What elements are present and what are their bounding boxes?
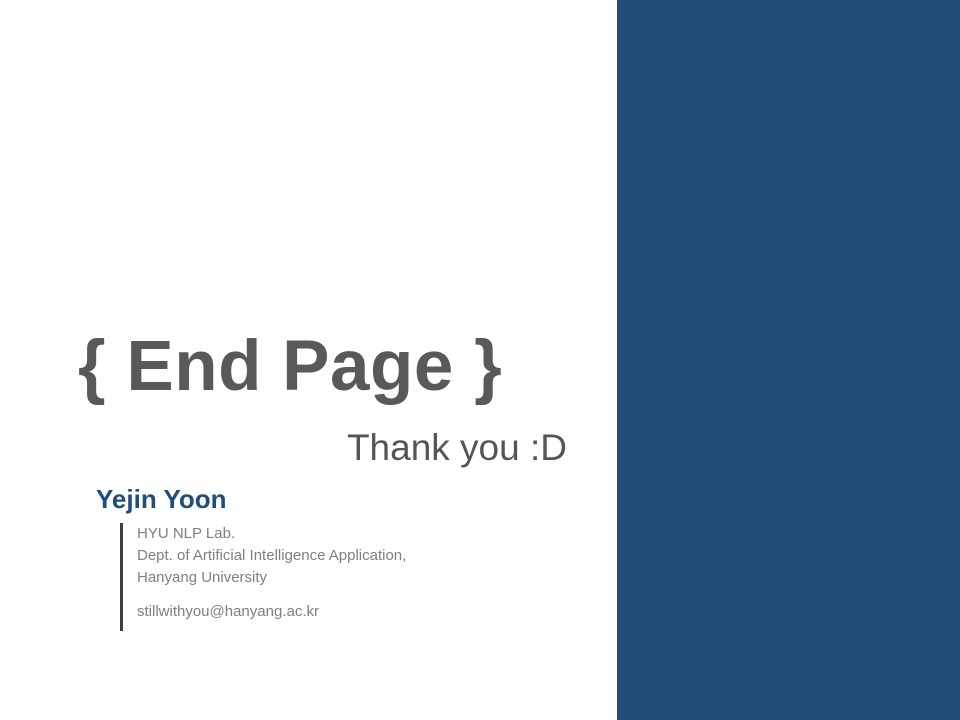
page-title: { End Page } [78, 328, 502, 406]
affiliation-line-1: HYU NLP Lab. [137, 523, 406, 545]
affiliation-line-2: Dept. of Artificial Intelligence Applica… [137, 545, 406, 567]
accent-panel [617, 0, 960, 720]
affiliation-block: HYU NLP Lab. Dept. of Artificial Intelli… [120, 523, 406, 631]
slide-subtitle: Thank you :D [0, 428, 567, 469]
slide-content: { End Page } Thank you :D Yejin Yoon HYU… [0, 0, 617, 720]
slide-canvas: { End Page } Thank you :D Yejin Yoon HYU… [0, 0, 960, 720]
contact-email[interactable]: stillwithyou@hanyang.ac.kr [137, 601, 406, 623]
affiliation-line-3: Hanyang University [137, 567, 406, 589]
author-name: Yejin Yoon [96, 485, 227, 515]
